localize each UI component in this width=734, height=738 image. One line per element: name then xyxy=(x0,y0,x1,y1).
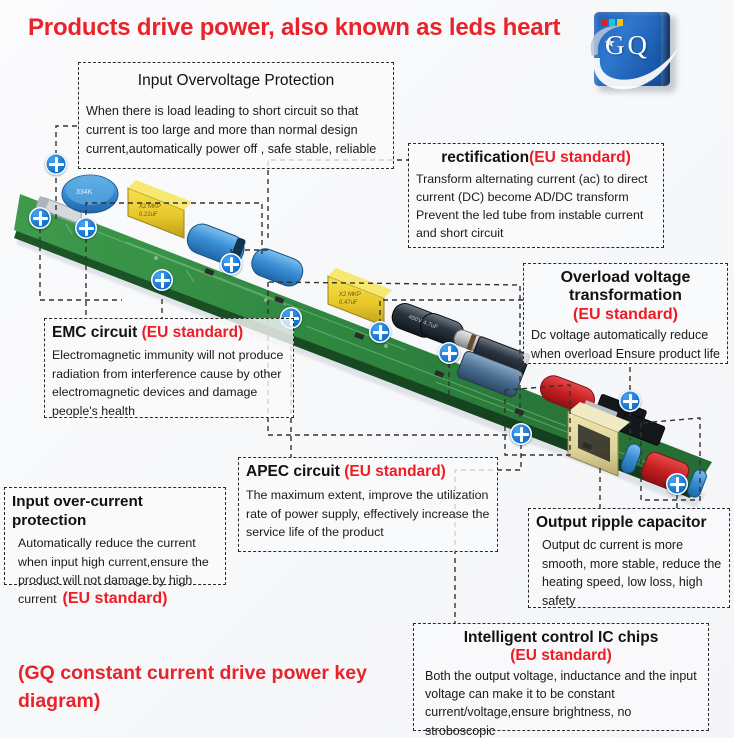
callout-heading-text: EMC circuit xyxy=(52,324,137,341)
infographic-canvas: Products drive power, also known as leds… xyxy=(0,0,734,738)
callout-input-over-current-protection: Input over-current protection Automatica… xyxy=(4,487,226,585)
callout-body: Both the output voltage, inductance and … xyxy=(421,667,701,738)
eu-standard-badge: (EU standard) xyxy=(529,149,631,166)
eu-standard-badge: (EU standard) xyxy=(510,647,612,664)
logo-brand-text: GQ xyxy=(605,30,650,61)
callout-body: When there is load leading to short circ… xyxy=(86,102,386,159)
marker-ripple-cap[interactable] xyxy=(666,473,688,495)
svg-text:X2 MKP: X2 MKP xyxy=(139,204,161,210)
eu-standard-badge: (EU standard) xyxy=(142,324,244,341)
callout-heading: EMC circuit (EU standard) xyxy=(52,324,286,343)
callout-overload-voltage-transformation: Overload voltage transformation(EU stand… xyxy=(523,263,728,364)
svg-text:X2 MKP: X2 MKP xyxy=(339,292,361,298)
callout-rectification: rectification(EU standard) Transform alt… xyxy=(408,143,664,248)
gq-logo: ★ GQ xyxy=(588,6,684,98)
callout-heading-text: Overload voltage transformation xyxy=(561,269,691,304)
marker-overload[interactable] xyxy=(438,342,460,364)
callout-heading: Input Overvoltage Protection xyxy=(86,72,386,91)
svg-text:334K: 334K xyxy=(76,189,93,196)
callout-body: The maximum extent, improve the utilizat… xyxy=(246,486,490,542)
marker-transformer[interactable] xyxy=(369,321,391,343)
callout-body: Output dc current is more smooth, more s… xyxy=(536,536,722,611)
callout-heading-text: rectification xyxy=(441,149,529,166)
callout-heading-text: APEC circuit xyxy=(246,463,340,480)
callout-apec-circuit: APEC circuit (EU standard) The maximum e… xyxy=(238,457,498,552)
marker-ic-chip[interactable] xyxy=(510,423,532,445)
callout-heading-text: Intelligent control IC chips xyxy=(464,629,659,646)
logo-spine xyxy=(661,12,670,86)
callout-heading: Intelligent control IC chips(EU standard… xyxy=(421,629,701,665)
marker-input-overvoltage[interactable] xyxy=(45,153,67,175)
callout-output-ripple-capacitor: Output ripple capacitor Output dc curren… xyxy=(528,508,730,608)
callout-heading: Overload voltage transformation(EU stand… xyxy=(531,269,720,324)
callout-heading: APEC circuit (EU standard) xyxy=(246,463,490,482)
callout-input-overvoltage-protection: Input Overvoltage Protection When there … xyxy=(78,62,394,169)
callout-heading: Input over-current protection xyxy=(12,493,218,530)
diagram-caption: (GQ constant current drive power key dia… xyxy=(18,660,408,715)
svg-text:0.47uF: 0.47uF xyxy=(339,300,358,306)
svg-text:0.22uF: 0.22uF xyxy=(139,212,158,218)
callout-body: Dc voltage automatically reduce when ove… xyxy=(531,326,720,364)
callout-body: Transform alternating current (ac) to di… xyxy=(416,170,656,242)
callout-body: Electromagnetic immunity will not produc… xyxy=(52,346,286,420)
logo-tile: ★ GQ xyxy=(594,12,670,86)
callout-input-over-current-eu-badge: (EU standard) xyxy=(4,590,226,608)
marker-input-fuse[interactable] xyxy=(29,207,51,229)
marker-emc-cap[interactable] xyxy=(75,217,97,239)
logo-color-dots xyxy=(601,19,623,26)
eu-standard-badge: (EU standard) xyxy=(573,306,678,323)
callout-heading: Output ripple capacitor xyxy=(536,514,722,533)
marker-output-coil[interactable] xyxy=(619,390,641,412)
eu-standard-badge: (EU standard) xyxy=(344,463,446,480)
marker-x-capacitor[interactable] xyxy=(151,269,173,291)
page-title: Products drive power, also known as leds… xyxy=(28,14,560,42)
callout-heading: rectification(EU standard) xyxy=(416,149,656,168)
callout-emc-circuit: EMC circuit (EU standard) Electromagneti… xyxy=(44,318,294,418)
marker-rectifier[interactable] xyxy=(220,253,242,275)
callout-intelligent-control-ic-chips: Intelligent control IC chips(EU standard… xyxy=(413,623,709,731)
